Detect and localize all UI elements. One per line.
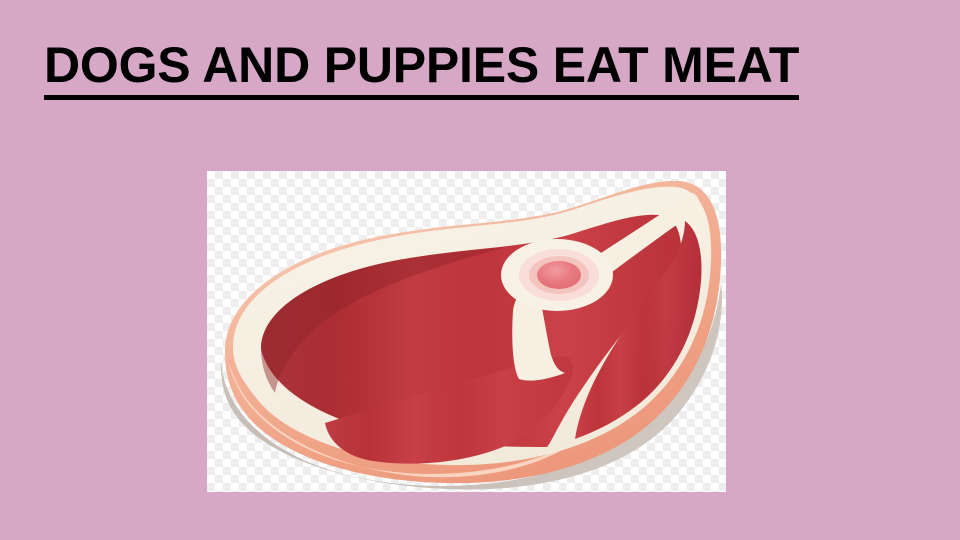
steak-bone-center xyxy=(537,261,581,289)
slide-canvas: DOGS AND PUPPIES EAT MEAT xyxy=(0,0,960,540)
steak-image-frame[interactable] xyxy=(207,171,726,492)
page-title-text: DOGS AND PUPPIES EAT MEAT xyxy=(44,38,799,100)
steak-illustration-icon xyxy=(207,171,726,492)
page-title: DOGS AND PUPPIES EAT MEAT xyxy=(44,38,924,100)
